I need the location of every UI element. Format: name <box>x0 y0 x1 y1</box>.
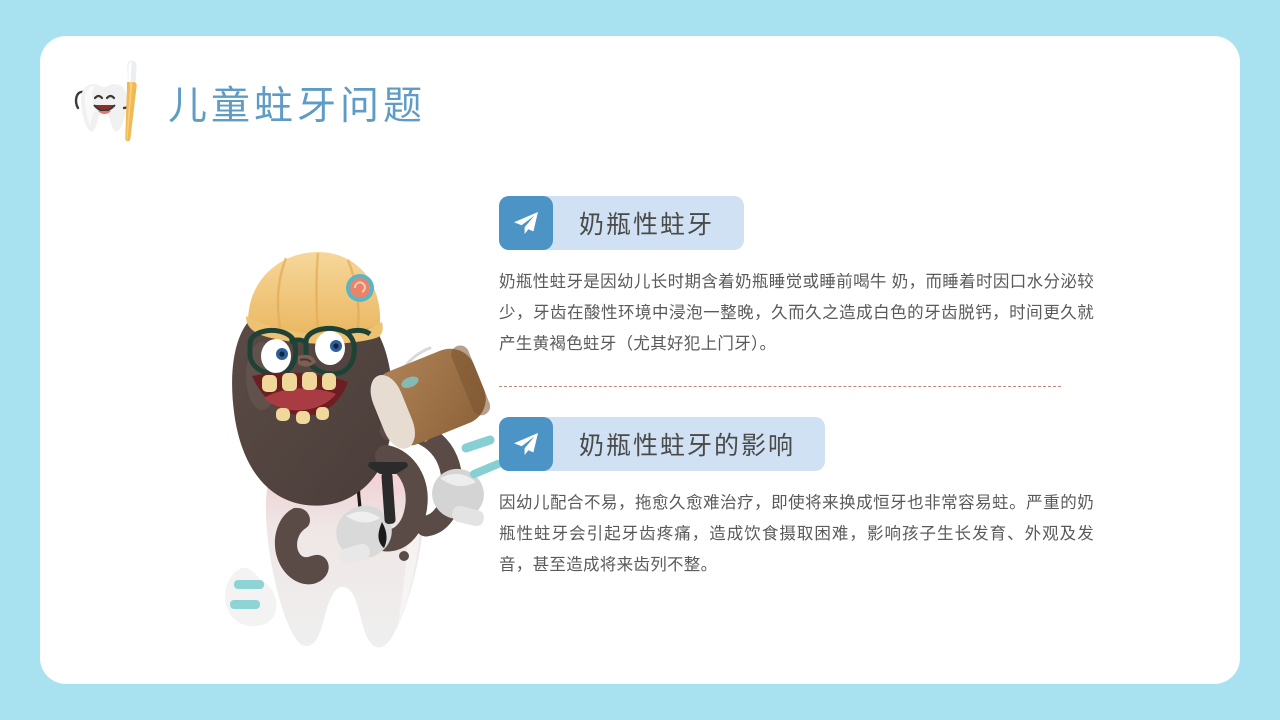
slide: 儿童蛀牙问题 <box>0 0 1280 720</box>
section-header-1[interactable]: 奶瓶性蛀牙 <box>499 196 744 250</box>
section-title-2: 奶瓶性蛀牙的影响 <box>579 426 795 462</box>
page-title: 儿童蛀牙问题 <box>168 75 426 131</box>
paper-plane-icon <box>499 196 553 250</box>
section-title-1: 奶瓶性蛀牙 <box>579 205 714 241</box>
content-card: 儿童蛀牙问题 <box>40 36 1240 684</box>
slide-header: 儿童蛀牙问题 <box>64 58 426 148</box>
section-body-2: 因幼儿配合不易，拖愈久愈难治疗，即使将来换成恒牙也非常容易蛀。严重的奶瓶性蛀牙会… <box>499 488 1094 581</box>
spacer <box>499 387 1109 417</box>
content-column: 奶瓶性蛀牙 奶瓶性蛀牙是因幼儿长时期含着奶瓶睡觉或睡前喝牛 奶，而睡着时因口水分… <box>499 196 1109 598</box>
section-bottle-caries-effects: 奶瓶性蛀牙的影响 因幼儿配合不易，拖愈久愈难治疗，即使将来换成恒牙也非常容易蛀。… <box>499 417 1109 581</box>
cavity-monster-illustration <box>190 216 510 666</box>
section-bottle-caries: 奶瓶性蛀牙 奶瓶性蛀牙是因幼儿长时期含着奶瓶睡觉或睡前喝牛 奶，而睡着时因口水分… <box>499 196 1109 360</box>
section-header-2[interactable]: 奶瓶性蛀牙的影响 <box>499 417 825 471</box>
paper-plane-icon <box>499 417 553 471</box>
section-body-1: 奶瓶性蛀牙是因幼儿长时期含着奶瓶睡觉或睡前喝牛 奶，而睡着时因口水分泌较少，牙齿… <box>499 267 1094 360</box>
tooth-toothbrush-icon <box>64 58 154 148</box>
